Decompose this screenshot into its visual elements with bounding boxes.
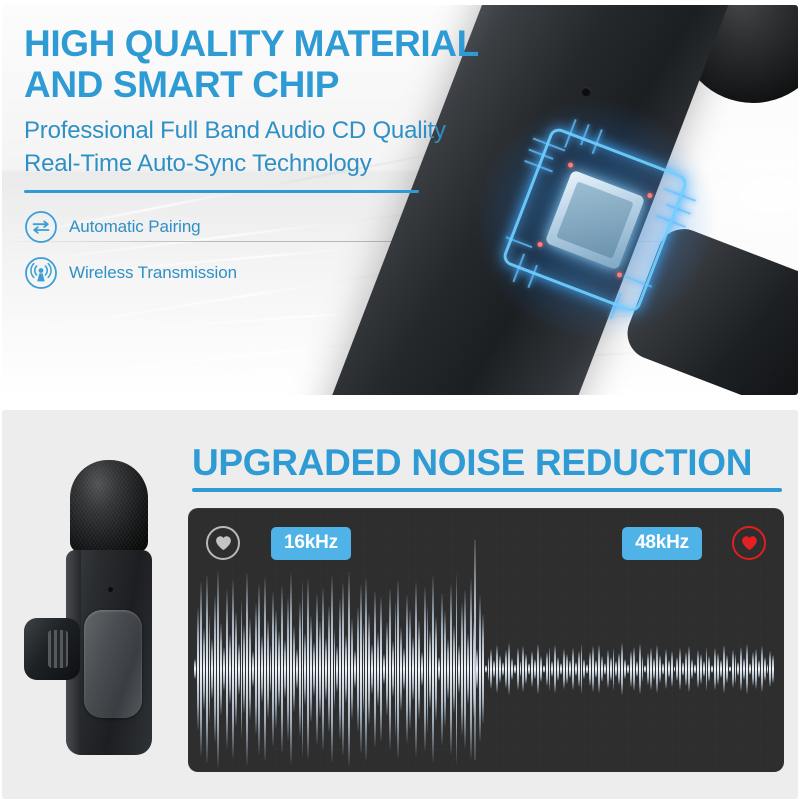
waveform-bar — [357, 607, 359, 732]
waveform-bar — [662, 663, 664, 675]
waveform-bar — [546, 652, 548, 686]
waveform-bar — [589, 652, 591, 686]
waveform-bar — [348, 572, 350, 766]
waveform-bar — [505, 650, 507, 688]
bottom-product-image — [22, 450, 182, 750]
waveform-bar — [528, 663, 530, 675]
waveform-bar — [496, 645, 498, 693]
waveform-bar — [310, 616, 312, 723]
waveform-bar — [293, 626, 295, 711]
waveform-bar — [679, 648, 681, 690]
waveform-bar — [560, 663, 562, 675]
waveform-bar — [302, 581, 304, 757]
bottom-feature-panel: UPGRADED NOISE REDUCTION 16kHz 48kHz — [2, 410, 798, 799]
waveform-bar — [630, 651, 632, 687]
waveform-bar — [365, 578, 367, 760]
waveform-bar — [203, 628, 205, 709]
waveform-bar — [607, 650, 609, 688]
waveform-bar — [563, 649, 565, 689]
waveform-bar — [427, 605, 429, 734]
waveform-bar — [334, 629, 336, 708]
waveform-bar — [267, 620, 269, 717]
waveform-bar — [444, 611, 446, 728]
feature-label: Automatic Pairing — [69, 217, 201, 237]
waveform-bar — [647, 653, 649, 685]
waveform-bar — [659, 655, 661, 683]
waveform-bar — [392, 641, 394, 696]
waveform-bar — [543, 665, 545, 673]
waveform-bar — [275, 610, 277, 729]
waveform-bar — [586, 664, 588, 674]
waveform-bar — [551, 661, 553, 677]
waveform-bar — [592, 646, 594, 692]
waveform-bar — [328, 606, 330, 733]
waveform-bar — [377, 632, 379, 705]
waveform-bar — [331, 576, 333, 762]
waveform-bar — [435, 617, 437, 722]
waveform-bar — [211, 639, 213, 698]
waveform-bar — [438, 657, 440, 681]
mic-control-button — [84, 610, 142, 718]
waveform-bar — [665, 649, 667, 689]
waveform-bar — [290, 574, 292, 764]
top-headline: HIGH QUALITY MATERIAL AND SMART CHIP — [24, 23, 504, 105]
waveform-bar — [502, 662, 504, 676]
waveform-bar — [499, 655, 501, 683]
waveform-bar — [737, 662, 739, 676]
waveform-bar — [769, 651, 771, 687]
waveform-bar — [485, 665, 487, 673]
waveform-bar — [531, 651, 533, 687]
feature-label: Wireless Transmission — [69, 263, 237, 283]
waveform-bar — [755, 649, 757, 689]
waveform-bar — [241, 600, 243, 739]
waveform-bar — [194, 659, 196, 679]
waveform-bar — [214, 596, 216, 743]
waveform-bar — [319, 621, 321, 716]
waveform-bar — [307, 579, 309, 759]
waveform-bar — [752, 652, 754, 686]
waveform-bar — [206, 575, 208, 763]
waveform-bar — [656, 645, 658, 693]
waveform-bar — [650, 648, 652, 690]
waveform-bar — [671, 651, 673, 687]
waveform-plot — [188, 570, 784, 768]
waveform-bar — [223, 647, 225, 691]
waveform-bar — [732, 650, 734, 688]
waveform-bar — [554, 645, 556, 693]
waveform-bar — [569, 660, 571, 678]
waveform-bar — [618, 653, 620, 685]
waveform-bar — [261, 636, 263, 701]
waveform-bar — [272, 592, 274, 746]
waveform-bar — [517, 648, 519, 690]
mic-back-clip — [24, 618, 80, 680]
waveform-bar — [467, 634, 469, 703]
waveform-bar — [482, 614, 484, 725]
waveform-bar — [383, 654, 385, 684]
waveform-bar — [270, 645, 272, 693]
waveform-bar — [296, 649, 298, 689]
waveform-bar — [610, 657, 612, 681]
waveform-section-divider — [474, 540, 476, 760]
waveform-bar — [708, 656, 710, 682]
waveform-bar — [511, 658, 513, 680]
waveform-bar — [688, 646, 690, 692]
waveform-bar — [374, 591, 376, 747]
heart-outline-gray-icon — [206, 526, 240, 560]
waveform-bar — [342, 583, 344, 755]
waveform-bar — [627, 664, 629, 674]
frequency-badge-16khz: 16kHz — [271, 527, 351, 560]
waveform-bar — [642, 656, 644, 682]
waveform-bar — [264, 577, 266, 761]
waveform-bar — [281, 586, 283, 752]
waveform-bar — [668, 660, 670, 678]
waveform-bar — [447, 639, 449, 698]
waveform-bar — [456, 574, 458, 764]
waveform-bar — [490, 649, 492, 689]
waveform-bar — [566, 654, 568, 684]
waveform-bar — [246, 573, 248, 765]
waveform-bar — [621, 643, 623, 694]
waveform-bar — [316, 594, 318, 744]
waveform-bar — [409, 609, 411, 730]
waveform-bar — [412, 637, 414, 700]
waveform-bar — [578, 651, 580, 687]
mic-foam-windscreen — [70, 460, 148, 552]
waveform-bar — [758, 660, 760, 678]
waveform-bar — [351, 619, 353, 720]
waveform-bar — [421, 652, 423, 686]
waveform-bar — [488, 657, 490, 681]
waveform-bar — [287, 598, 289, 741]
waveform-bar — [476, 649, 478, 689]
waveform-bar — [432, 576, 434, 762]
waveform-bar — [255, 604, 257, 735]
waveform-bar — [624, 659, 626, 679]
waveform-bar — [360, 585, 362, 753]
waveform-bar — [700, 654, 702, 684]
waveform-bar — [723, 645, 725, 693]
waveform-bar — [549, 647, 551, 691]
waveform-bar — [232, 580, 234, 758]
bottom-title: UPGRADED NOISE REDUCTION — [192, 442, 782, 484]
waveform-bar — [674, 666, 676, 672]
waveform-bar — [278, 631, 280, 706]
waveform-bar — [653, 658, 655, 680]
waveform-bar — [389, 589, 391, 749]
waveform-bar — [229, 634, 231, 703]
waveform-bar — [761, 646, 763, 692]
waveform-bar — [575, 662, 577, 676]
waveform-bar — [238, 643, 240, 694]
waveform-bar — [235, 612, 237, 727]
waveform-bar — [691, 659, 693, 679]
waveform-bar — [249, 618, 251, 721]
waveform-bar — [676, 657, 678, 681]
waveform-bar — [429, 630, 431, 707]
waveform-bar — [572, 648, 574, 690]
top-divider-rule — [24, 190, 419, 193]
waveform-bar — [520, 661, 522, 677]
waveform-bar — [450, 584, 452, 754]
waveform-bar — [304, 633, 306, 704]
waveform-bar — [717, 653, 719, 685]
waveform-bar — [604, 663, 606, 675]
waveform-bar — [639, 644, 641, 694]
waveform-bar — [514, 664, 516, 674]
waveform-bar — [284, 640, 286, 697]
waveform-bar — [453, 625, 455, 712]
waveform-bar — [595, 660, 597, 678]
waveform-bar — [720, 660, 722, 678]
waveform-bar — [403, 648, 405, 690]
waveform-bar — [258, 584, 260, 754]
waveform-bar — [406, 595, 408, 744]
feature-item-automatic-pairing: Automatic Pairing — [24, 210, 504, 244]
waveform-bar — [461, 603, 463, 736]
waveform-bar — [325, 638, 327, 699]
waveform-bar — [368, 613, 370, 726]
waveform-bar — [633, 647, 635, 691]
waveform-bar — [464, 590, 466, 748]
waveform-bar — [458, 645, 460, 693]
waveform-comparison-panel: 16kHz 48kHz — [188, 508, 784, 772]
waveform-bar — [644, 665, 646, 673]
top-subline: Professional Full Band Audio CD Quality … — [24, 114, 504, 180]
waveform-bar — [479, 596, 481, 743]
waveform-bar — [508, 643, 510, 694]
waveform-bar — [743, 658, 745, 680]
waveform-bar — [636, 661, 638, 677]
waveform-bar — [336, 646, 338, 692]
waveform-bar — [685, 652, 687, 686]
waveform-bar — [400, 627, 402, 710]
waveform-bar — [706, 647, 708, 691]
smart-chip-graphic — [472, 97, 717, 342]
waveform-bar — [583, 659, 585, 679]
waveform-bar — [243, 625, 245, 712]
heart-filled-red-icon — [732, 526, 766, 560]
waveform-bar — [711, 665, 713, 673]
waveform-bar — [415, 582, 417, 756]
waveform-bar — [749, 663, 751, 675]
waveform-bar — [522, 646, 524, 692]
waveform-bar — [694, 664, 696, 674]
waveform-bar — [525, 654, 527, 684]
wireless-broadcast-icon — [24, 256, 58, 290]
waveform-bar — [395, 601, 397, 738]
waveform-bar — [209, 615, 211, 724]
waveform-bar — [322, 588, 324, 750]
waveform-bar — [767, 664, 769, 674]
waveform-bar — [729, 666, 731, 672]
waveform-bar — [217, 571, 219, 767]
waveform-bar — [345, 635, 347, 702]
waveform-bar — [371, 644, 373, 694]
waveform-bar — [252, 651, 254, 687]
waveform-bar — [339, 599, 341, 740]
waveform-bar — [615, 661, 617, 677]
waveform-bar — [581, 644, 583, 694]
waveform-bar — [772, 655, 774, 683]
waveform-bar — [714, 648, 716, 690]
waveform-bar — [424, 587, 426, 751]
waveform-bar — [537, 644, 539, 694]
waveform-bar — [534, 659, 536, 679]
waveform-bar — [601, 656, 603, 682]
waveform-bar — [299, 602, 301, 737]
waveform-bar — [441, 593, 443, 745]
top-feature-panel: HIGH QUALITY MATERIAL AND SMART CHIP Pro… — [2, 5, 798, 395]
waveform-bar — [703, 661, 705, 677]
waveform-bars — [194, 570, 778, 768]
waveform-bar — [697, 650, 699, 688]
sync-arrows-icon — [24, 210, 58, 244]
frequency-badge-48khz: 48kHz — [622, 527, 702, 560]
waveform-bar — [354, 650, 356, 688]
waveform-bar — [726, 655, 728, 683]
waveform-bar — [197, 608, 199, 731]
waveform-bar — [598, 645, 600, 693]
waveform-bar — [764, 657, 766, 681]
top-text-block: HIGH QUALITY MATERIAL AND SMART CHIP Pro… — [24, 23, 504, 302]
waveform-bar — [226, 590, 228, 748]
mic-led-pinhole — [108, 587, 113, 592]
feature-list: Automatic Pairing Wireless Transmission — [24, 210, 504, 290]
waveform-bar — [313, 642, 315, 695]
waveform-bar — [735, 654, 737, 684]
waveform-bar — [418, 620, 420, 719]
waveform-bar — [746, 644, 748, 694]
feature-item-wireless-transmission: Wireless Transmission — [24, 256, 504, 290]
waveform-bar — [470, 579, 472, 759]
waveform-bar — [363, 624, 365, 713]
waveform-bar — [682, 662, 684, 676]
waveform-bar — [557, 657, 559, 681]
waveform-bar — [540, 656, 542, 682]
waveform-bar — [220, 623, 222, 714]
waveform-bar — [397, 580, 399, 758]
bottom-divider-rule — [192, 488, 782, 492]
waveform-bar — [740, 647, 742, 691]
waveform-bar — [200, 582, 202, 756]
waveform-bar — [493, 660, 495, 678]
waveform-bar — [613, 648, 615, 690]
waveform-bar — [386, 622, 388, 715]
waveform-bar — [380, 597, 382, 742]
